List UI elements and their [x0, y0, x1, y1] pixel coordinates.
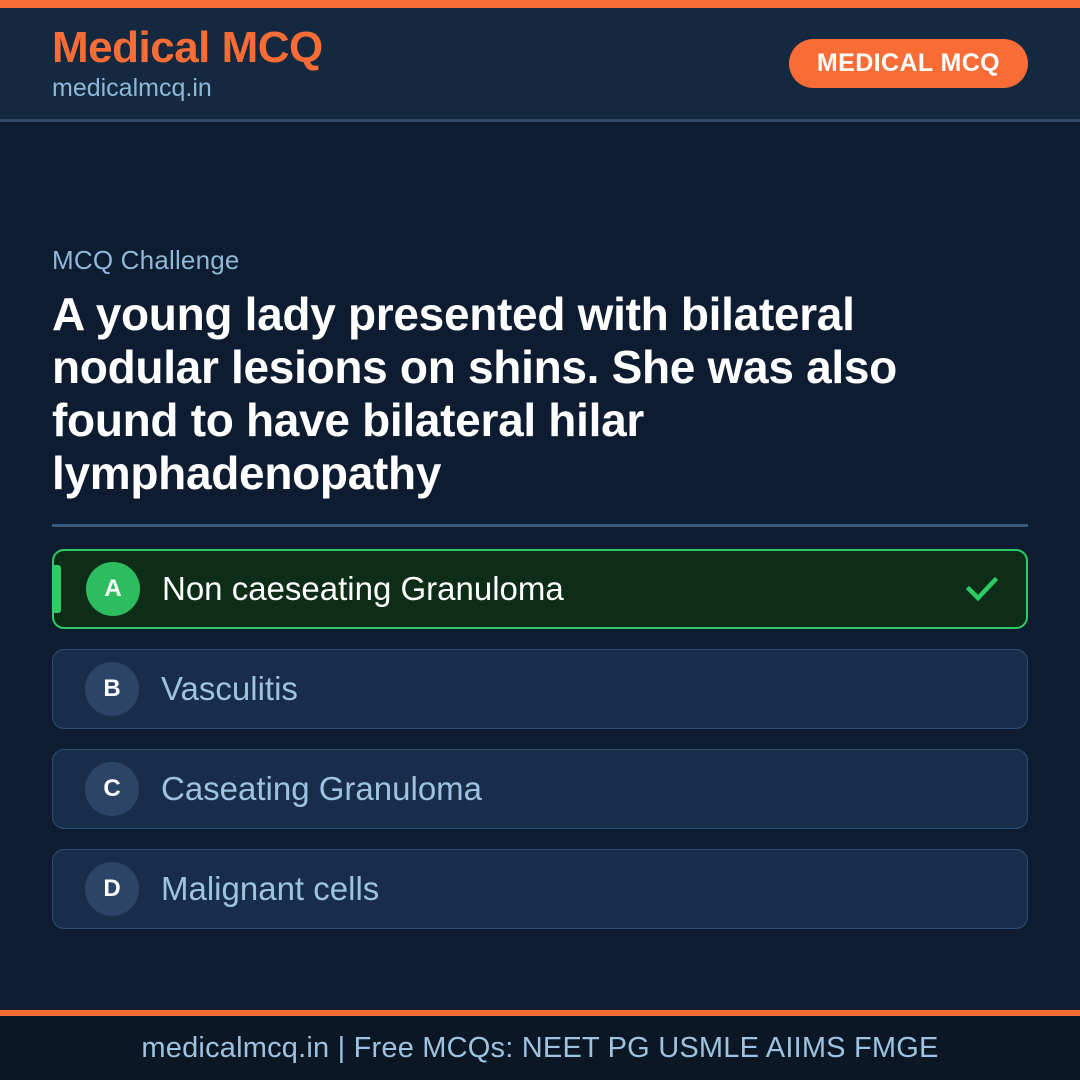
eyebrow-label: MCQ Challenge — [52, 245, 1028, 276]
option-label-b: Vasculitis — [161, 671, 298, 707]
option-label-d: Malignant cells — [161, 871, 379, 907]
question-divider — [52, 524, 1028, 527]
header: Medical MCQ medicalmcq.in MEDICAL MCQ — [0, 8, 1080, 122]
option-badge-c: C — [85, 762, 139, 816]
main-content: MCQ Challenge A young lady presented wit… — [0, 122, 1080, 1010]
brand-title: Medical MCQ — [52, 24, 323, 72]
option-row-a[interactable]: A Non caeseating Granuloma — [52, 549, 1028, 629]
header-badge: MEDICAL MCQ — [789, 39, 1028, 88]
option-row-d[interactable]: D Malignant cells — [52, 849, 1028, 929]
top-accent-bar — [0, 0, 1080, 8]
options-list: A Non caeseating Granuloma B Vasculitis — [52, 549, 1028, 929]
check-icon — [962, 569, 1002, 609]
mcq-card: Medical MCQ medicalmcq.in MEDICAL MCQ MC… — [0, 0, 1080, 1080]
option-badge-d: D — [85, 862, 139, 916]
option-row-b[interactable]: B Vasculitis — [52, 649, 1028, 729]
question-text: A young lady presented with bilateral no… — [52, 288, 1028, 500]
option-label-c: Caseating Granuloma — [161, 771, 482, 807]
brand-url: medicalmcq.in — [52, 73, 323, 103]
option-label-a: Non caeseating Granuloma — [162, 571, 564, 607]
option-row-c[interactable]: C Caseating Granuloma — [52, 749, 1028, 829]
footer-text: medicalmcq.in | Free MCQs: NEET PG USMLE… — [141, 1034, 938, 1063]
correct-accent-bar — [54, 565, 61, 613]
brand-block: Medical MCQ medicalmcq.in — [52, 24, 323, 104]
option-badge-b: B — [85, 662, 139, 716]
footer: medicalmcq.in | Free MCQs: NEET PG USMLE… — [0, 1010, 1080, 1080]
option-badge-a: A — [86, 562, 140, 616]
